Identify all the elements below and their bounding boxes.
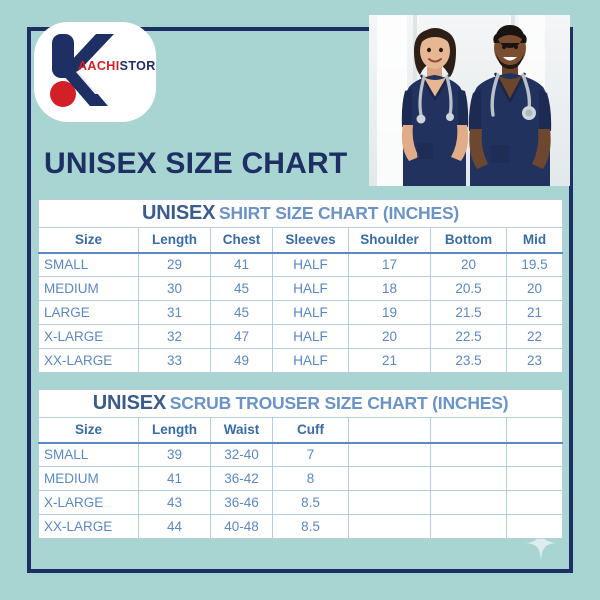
cell-size: MEDIUM (39, 467, 139, 491)
trouser-col-cuff: Cuff (273, 418, 349, 443)
wordmark-aachi: AACHI (78, 59, 120, 73)
cell-mid: 21 (507, 301, 563, 325)
cell-cuff: 8.5 (273, 491, 349, 515)
cell-cuff: 7 (273, 443, 349, 467)
cell-sleeves: HALF (273, 253, 349, 277)
cell-length: 32 (139, 325, 211, 349)
shirt-col-shoulder: Shoulder (349, 228, 431, 253)
shirt-col-chest: Chest (211, 228, 273, 253)
cell-size: XX-LARGE (39, 349, 139, 373)
cell-shoulder: 21 (349, 349, 431, 373)
cell-size: SMALL (39, 443, 139, 467)
size-chart-poster: AACHISTORE (0, 0, 600, 600)
brand-wordmark: AACHISTORE (78, 60, 156, 73)
wordmark-store: STORE (120, 59, 156, 73)
trouser-table-caption: UNISEX SCRUB TROUSER SIZE CHART (INCHES) (39, 390, 563, 418)
shirt-table-header-row: Size Length Chest Sleeves Shoulder Botto… (39, 228, 563, 253)
cell-sleeves: HALF (273, 277, 349, 301)
cell-length: 41 (139, 467, 211, 491)
trouser-table-header-row: Size Length Waist Cuff (39, 418, 563, 443)
cell-blank-2 (431, 491, 507, 515)
cell-shoulder: 20 (349, 325, 431, 349)
cell-bottom: 23.5 (431, 349, 507, 373)
table-row: MEDIUM 30 45 HALF 18 20.5 20 (39, 277, 563, 301)
cell-blank-1 (349, 443, 431, 467)
cell-bottom: 22.5 (431, 325, 507, 349)
brand-logo-badge: AACHISTORE (34, 22, 156, 122)
table-row: SMALL 39 32-40 7 (39, 443, 563, 467)
shirt-col-mid: Mid (507, 228, 563, 253)
cell-length: 43 (139, 491, 211, 515)
cell-mid: 22 (507, 325, 563, 349)
table-row: X-LARGE 43 36-46 8.5 (39, 491, 563, 515)
trouser-col-blank-2 (431, 418, 507, 443)
cell-chest: 47 (211, 325, 273, 349)
trouser-table-caption-row: UNISEX SCRUB TROUSER SIZE CHART (INCHES) (39, 390, 563, 418)
shirt-col-bottom: Bottom (431, 228, 507, 253)
cell-waist: 36-46 (211, 491, 273, 515)
cell-mid: 20 (507, 277, 563, 301)
cell-bottom: 20 (431, 253, 507, 277)
table-row: MEDIUM 41 36-42 8 (39, 467, 563, 491)
cell-size: SMALL (39, 253, 139, 277)
shirt-table-caption: UNISEX SHIRT SIZE CHART (INCHES) (39, 200, 563, 228)
cell-blank-3 (507, 467, 563, 491)
cell-blank-2 (431, 467, 507, 491)
shirt-col-size: Size (39, 228, 139, 253)
trouser-caption-strong: UNISEX (93, 392, 166, 414)
cell-blank-1 (349, 515, 431, 539)
cell-cuff: 8 (273, 467, 349, 491)
cell-chest: 49 (211, 349, 273, 373)
table-row: X-LARGE 32 47 HALF 20 22.5 22 (39, 325, 563, 349)
table-row: XX-LARGE 33 49 HALF 21 23.5 23 (39, 349, 563, 373)
cell-shoulder: 17 (349, 253, 431, 277)
cell-waist: 32-40 (211, 443, 273, 467)
cell-size: X-LARGE (39, 325, 139, 349)
cell-blank-3 (507, 491, 563, 515)
cell-chest: 41 (211, 253, 273, 277)
shirt-size-chart-table: UNISEX SHIRT SIZE CHART (INCHES) Size Le… (38, 199, 563, 373)
page-title: UNISEX SIZE CHART (44, 147, 347, 181)
cell-blank-2 (431, 515, 507, 539)
shirt-col-sleeves: Sleeves (273, 228, 349, 253)
trouser-size-chart-table: UNISEX SCRUB TROUSER SIZE CHART (INCHES)… (38, 389, 563, 539)
table-row: SMALL 29 41 HALF 17 20 19.5 (39, 253, 563, 277)
cell-waist: 36-42 (211, 467, 273, 491)
cell-length: 29 (139, 253, 211, 277)
cell-blank-3 (507, 515, 563, 539)
cell-blank-1 (349, 491, 431, 515)
table-row: LARGE 31 45 HALF 19 21.5 21 (39, 301, 563, 325)
cell-blank-2 (431, 443, 507, 467)
cell-waist: 40-48 (211, 515, 273, 539)
cell-size: MEDIUM (39, 277, 139, 301)
shirt-caption-strong: UNISEX (142, 202, 215, 224)
cell-chest: 45 (211, 301, 273, 325)
cell-mid: 19.5 (507, 253, 563, 277)
cell-length: 31 (139, 301, 211, 325)
cell-length: 39 (139, 443, 211, 467)
cell-chest: 45 (211, 277, 273, 301)
trouser-col-size: Size (39, 418, 139, 443)
shirt-table-caption-row: UNISEX SHIRT SIZE CHART (INCHES) (39, 200, 563, 228)
hero-photo-medical-staff (369, 15, 570, 186)
cell-bottom: 20.5 (431, 277, 507, 301)
cell-sleeves: HALF (273, 349, 349, 373)
cell-blank-3 (507, 443, 563, 467)
trouser-caption-light: SCRUB TROUSER SIZE CHART (INCHES) (170, 393, 509, 413)
cell-sleeves: HALF (273, 301, 349, 325)
medical-staff-illustration (369, 15, 570, 186)
cell-size: XX-LARGE (39, 515, 139, 539)
cell-length: 33 (139, 349, 211, 373)
trouser-col-blank-1 (349, 418, 431, 443)
cell-shoulder: 18 (349, 277, 431, 301)
cell-sleeves: HALF (273, 325, 349, 349)
cell-length: 30 (139, 277, 211, 301)
shirt-caption-light: SHIRT SIZE CHART (INCHES) (219, 203, 459, 223)
cell-size: LARGE (39, 301, 139, 325)
trouser-col-length: Length (139, 418, 211, 443)
cell-blank-1 (349, 467, 431, 491)
table-row: XX-LARGE 44 40-48 8.5 (39, 515, 563, 539)
trouser-col-waist: Waist (211, 418, 273, 443)
cell-cuff: 8.5 (273, 515, 349, 539)
cell-mid: 23 (507, 349, 563, 373)
cell-length: 44 (139, 515, 211, 539)
shirt-col-length: Length (139, 228, 211, 253)
cell-shoulder: 19 (349, 301, 431, 325)
cell-size: X-LARGE (39, 491, 139, 515)
cell-bottom: 21.5 (431, 301, 507, 325)
trouser-col-blank-3 (507, 418, 563, 443)
